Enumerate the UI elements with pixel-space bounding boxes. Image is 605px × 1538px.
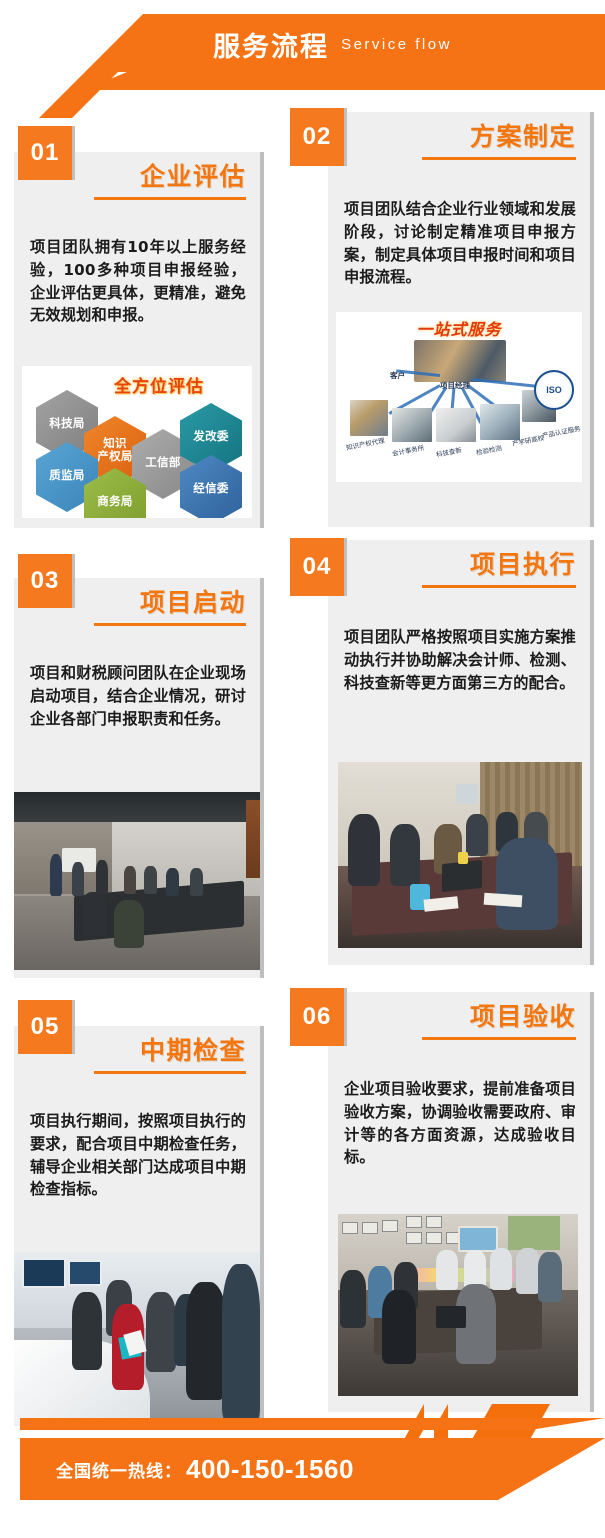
service-thumb-novelty bbox=[436, 408, 476, 442]
step-title-05: 中期检查 bbox=[94, 1038, 246, 1066]
step-badge-01: 01 bbox=[18, 126, 72, 180]
hotline-number[interactable]: 400-150-1560 bbox=[186, 1454, 354, 1485]
service-bottom-label-1: 知识产权代理 bbox=[345, 435, 385, 452]
step-title-block-02: 方案制定 bbox=[422, 124, 576, 160]
hexagon-chart-title: 全方位评估 bbox=[114, 372, 204, 397]
photo-project-execution bbox=[338, 762, 582, 948]
step-title-block-05: 中期检查 bbox=[94, 1038, 246, 1074]
step-body-04: 项目团队严格按照项目实施方案推动执行并协助解决会计师、检测、科技查新等更方面第三… bbox=[344, 626, 576, 694]
step-title-01: 企业评估 bbox=[94, 164, 246, 192]
hexagon-chart-01: 全方位评估 科技局 知识产权局 质监局 工信部 商务局 发改委 经信委 bbox=[22, 366, 252, 518]
step-body-02: 项目团队结合企业行业领域和发展阶段，讨论制定精准项目申报方案，制定具体项目申报时… bbox=[344, 198, 576, 289]
step-number-04: 04 bbox=[303, 553, 332, 581]
step-card-06: 06 项目验收 企业项目验收要求，提前准备项目验收方案，协调验收需要政府、审计等… bbox=[328, 992, 590, 1412]
header-title-group: 服务流程 Service flow bbox=[0, 20, 605, 68]
title-underline-01 bbox=[94, 197, 246, 200]
service-bottom-label-2: 会计事务所 bbox=[391, 442, 425, 458]
service-bottom-label-3: 科技查新 bbox=[435, 444, 462, 459]
service-diagram-02: 一站式服务 客户 项目经理 ISO 知识产权代理 会计事务所 科技查新 检验检测 bbox=[336, 312, 582, 482]
step-number-05: 05 bbox=[31, 1013, 60, 1041]
iso-seal-icon: ISO bbox=[534, 370, 574, 410]
service-flow-infographic: 服务流程 Service flow 01 企业评估 项目团队拥有10年以上服务经… bbox=[0, 0, 605, 1538]
photo-midterm-inspection bbox=[14, 1252, 260, 1424]
service-bottom-label-6: 产品认证服务 bbox=[541, 423, 581, 440]
step-title-06: 项目验收 bbox=[422, 1004, 576, 1032]
title-underline-04 bbox=[422, 585, 576, 588]
title-underline-03 bbox=[94, 623, 246, 626]
step-card-03: 03 项目启动 项目和财税顾问团队在企业现场启动项目，结合企业情况，研讨企业各部… bbox=[14, 578, 260, 978]
footer-accent-stripe bbox=[20, 1418, 605, 1430]
step-badge-04: 04 bbox=[290, 538, 344, 596]
step-card-02: 02 方案制定 项目团队结合企业行业领域和发展阶段，讨论制定精准项目申报方案，制… bbox=[328, 112, 590, 527]
page-title-en: Service flow bbox=[341, 36, 452, 53]
step-body-06: 企业项目验收要求，提前准备项目验收方案，协调验收需要政府、审计等的各方面资源，达… bbox=[344, 1078, 576, 1169]
step-number-02: 02 bbox=[303, 123, 332, 151]
step-number-06: 06 bbox=[303, 1003, 332, 1031]
step-title-04: 项目执行 bbox=[422, 552, 576, 580]
step-card-04: 04 项目执行 项目团队严格按照项目实施方案推动执行并协助解决会计师、检测、科技… bbox=[328, 540, 590, 965]
page-title-cn: 服务流程 bbox=[213, 25, 329, 64]
step-title-block-01: 企业评估 bbox=[94, 164, 246, 200]
photo-project-kickoff bbox=[14, 792, 260, 970]
step-title-03: 项目启动 bbox=[94, 590, 246, 618]
service-bottom-label-4: 检验检测 bbox=[475, 442, 502, 457]
step-title-block-06: 项目验收 bbox=[422, 1004, 576, 1040]
step-title-02: 方案制定 bbox=[422, 124, 576, 152]
hotline-label: 全国统一热线： bbox=[56, 1457, 182, 1482]
service-label-kehu: 客户 bbox=[390, 370, 405, 381]
iso-seal-text: ISO bbox=[546, 385, 562, 395]
footer-banner: 全国统一热线： 400-150-1560 bbox=[0, 1410, 605, 1520]
title-underline-05 bbox=[94, 1071, 246, 1074]
service-diagram-title: 一站式服务 bbox=[336, 316, 582, 340]
service-label-jingli: 项目经理 bbox=[440, 380, 470, 391]
step-badge-02: 02 bbox=[290, 108, 344, 166]
step-body-01: 项目团队拥有10年以上服务经验，100多种项目申报经验，企业评估更具体，更精准，… bbox=[30, 236, 246, 327]
step-title-block-04: 项目执行 bbox=[422, 552, 576, 588]
title-underline-02 bbox=[422, 157, 576, 160]
footer-hotline-group: 全国统一热线： 400-150-1560 bbox=[56, 1438, 354, 1500]
step-number-01: 01 bbox=[31, 139, 60, 167]
step-number-03: 03 bbox=[31, 567, 60, 595]
header-banner: 服务流程 Service flow bbox=[0, 0, 605, 118]
service-thumb-ip bbox=[350, 400, 388, 436]
step-card-01: 01 企业评估 项目团队拥有10年以上服务经验，100多种项目申报经验，企业评估… bbox=[14, 152, 260, 528]
step-badge-03: 03 bbox=[18, 554, 72, 608]
service-thumb-accounting bbox=[392, 408, 432, 442]
photo-project-acceptance bbox=[338, 1214, 578, 1396]
step-badge-05: 05 bbox=[18, 1000, 72, 1054]
step-body-05: 项目执行期间，按照项目执行的要求，配合项目中期检查任务，辅导企业相关部门达成项目… bbox=[30, 1110, 246, 1201]
title-underline-06 bbox=[422, 1037, 576, 1040]
step-card-05: 05 中期检查 项目执行期间，按照项目执行的要求，配合项目中期检查任务，辅导企业… bbox=[14, 1026, 260, 1426]
service-thumb-testing bbox=[480, 404, 520, 440]
step-title-block-03: 项目启动 bbox=[94, 590, 246, 626]
service-ray-6 bbox=[472, 378, 544, 389]
step-body-03: 项目和财税顾问团队在企业现场启动项目，结合企业情况，研讨企业各部门申报职责和任务… bbox=[30, 662, 246, 730]
step-badge-06: 06 bbox=[290, 988, 344, 1046]
